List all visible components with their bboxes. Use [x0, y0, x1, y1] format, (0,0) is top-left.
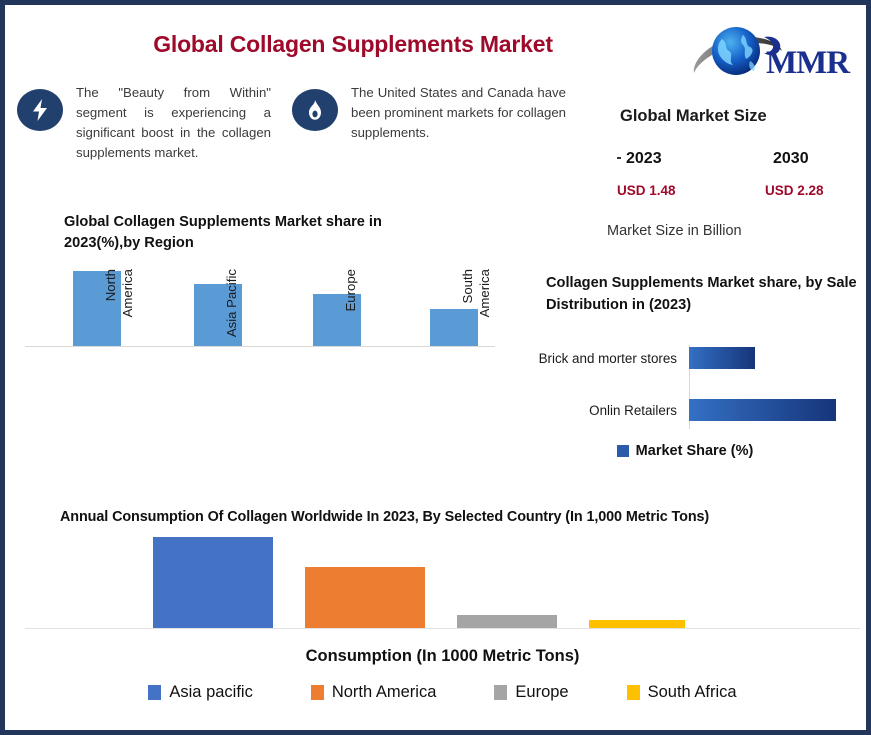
region-chart-title: Global Collagen Supplements Market share…	[64, 212, 454, 254]
consumption-chart-axis	[25, 628, 860, 629]
highlight-text: The "Beauty from Within" segment is expe…	[76, 83, 271, 163]
sale-distribution-label: Brick and morter stores	[505, 351, 683, 366]
market-size-value-2023: USD 1.48	[617, 183, 676, 198]
sale-distribution-bar	[689, 399, 836, 421]
legend-swatch-market-share	[617, 445, 629, 457]
consumption-chart-title: Annual Consumption Of Collagen Worldwide…	[60, 509, 860, 525]
sale-distribution-chart-title: Collagen Supplements Market share, by Sa…	[546, 273, 866, 316]
legend-label: Europe	[515, 683, 568, 702]
region-label: Europe	[343, 269, 360, 353]
market-size-year-2030: 2030	[773, 150, 809, 168]
mmr-logo: MMR	[688, 21, 866, 93]
logo-wordmark: MMR	[766, 45, 849, 82]
consumption-chart-xlabel: Consumption (In 1000 Metric Tons)	[25, 647, 860, 666]
market-size-year-2023: 2023	[626, 150, 662, 168]
legend-swatch	[494, 685, 507, 700]
legend-swatch	[627, 685, 640, 700]
market-size-value-2030: USD 2.28	[765, 183, 824, 198]
legend-item: Asia pacific	[148, 683, 252, 702]
highlight-text: The United States and Canada have been p…	[351, 83, 566, 143]
legend-label: North America	[332, 683, 437, 702]
sale-distribution-legend: Market Share (%)	[505, 443, 865, 459]
consumption-chart-legend: Asia pacificNorth AmericaEuropeSouth Afr…	[25, 683, 860, 702]
sale-distribution-row: Brick and morter stores	[505, 347, 865, 369]
legend-item: Europe	[494, 683, 568, 702]
flame-icon	[292, 89, 338, 131]
market-size-unit-note: Market Size in Billion	[607, 223, 742, 239]
page-title: Global Collagen Supplements Market	[93, 31, 613, 58]
sale-distribution-row: Onlin Retailers	[505, 399, 865, 421]
infographic-poster: Global Collagen Supplements Market The "…	[0, 0, 871, 735]
legend-label: South Africa	[648, 683, 737, 702]
consumption-bar	[305, 567, 425, 629]
consumption-chart-plot	[25, 529, 860, 629]
consumption-bar	[457, 615, 557, 629]
highlight-block-beauty-from-within: The "Beauty from Within" segment is expe…	[17, 83, 287, 163]
sale-distribution-plot: Brick and morter storesOnlin Retailers	[505, 341, 865, 429]
region-label: North America	[103, 269, 136, 353]
consumption-bar	[153, 537, 273, 629]
legend-item: North America	[311, 683, 437, 702]
legend-swatch	[311, 685, 324, 700]
region-chart-axis	[25, 346, 495, 347]
region-chart-plot	[25, 263, 495, 347]
lightning-bolt-icon	[17, 89, 63, 131]
sale-distribution-bar	[689, 347, 755, 369]
sale-distribution-label: Onlin Retailers	[505, 403, 683, 418]
market-size-heading: Global Market Size	[620, 107, 767, 126]
region-label: Asia Pacific	[224, 269, 241, 353]
bullet-dot-icon	[617, 157, 621, 159]
legend-item: South Africa	[627, 683, 737, 702]
region-label: South America	[460, 269, 493, 353]
legend-swatch	[148, 685, 161, 700]
highlight-block-us-canada: The United States and Canada have been p…	[292, 83, 582, 143]
legend-label-market-share: Market Share (%)	[636, 443, 754, 459]
legend-label: Asia pacific	[169, 683, 252, 702]
